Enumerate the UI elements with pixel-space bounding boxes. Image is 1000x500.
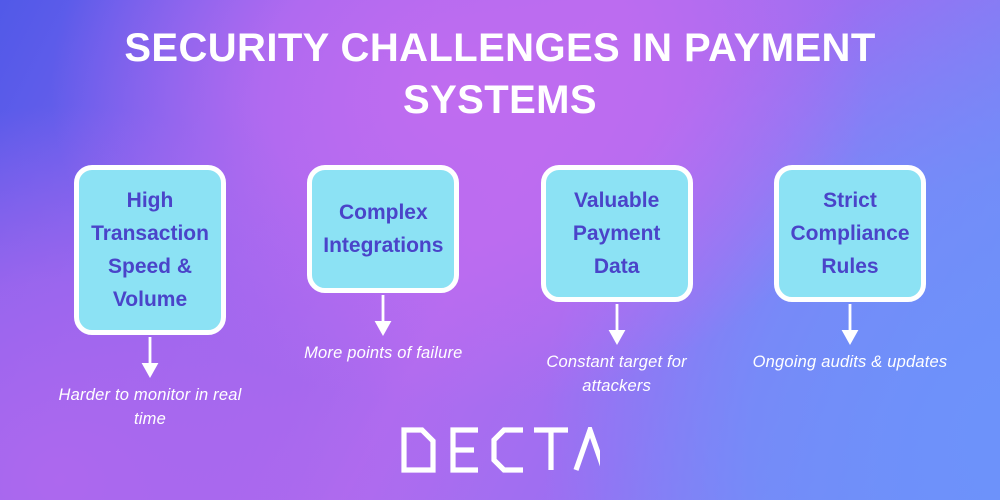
challenge-caption-4: Ongoing audits & updates bbox=[752, 350, 948, 374]
challenge-card-4[interactable]: Strict Compliance Rules bbox=[774, 165, 926, 302]
challenge-columns: High Transaction Speed & Volume Harder t… bbox=[50, 165, 950, 415]
arrow-down-icon bbox=[606, 304, 628, 346]
challenge-caption-1: Harder to monitor in real time bbox=[52, 383, 248, 431]
challenge-caption-2: More points of failure bbox=[285, 341, 481, 365]
arrow-down-icon bbox=[839, 304, 861, 346]
arrow-down-icon bbox=[139, 337, 161, 379]
brand-footer bbox=[0, 427, 1000, 478]
challenge-card-3[interactable]: Valuable Payment Data bbox=[541, 165, 693, 302]
decta-wordmark-logo bbox=[400, 427, 600, 473]
challenge-column-2: Complex Integrations More points of fail… bbox=[283, 165, 483, 365]
arrow-down-icon bbox=[372, 295, 394, 337]
challenge-card-1[interactable]: High Transaction Speed & Volume bbox=[74, 165, 226, 335]
challenge-caption-3: Constant target for attackers bbox=[519, 350, 715, 398]
challenge-column-4: Strict Compliance Rules Ongoing audits &… bbox=[750, 165, 950, 374]
infographic-canvas: SECURITY CHALLENGES IN PAYMENT SYSTEMS H… bbox=[0, 0, 1000, 500]
challenge-column-1: High Transaction Speed & Volume Harder t… bbox=[50, 165, 250, 431]
page-title: SECURITY CHALLENGES IN PAYMENT SYSTEMS bbox=[60, 22, 940, 126]
challenge-column-3: Valuable Payment Data Constant target fo… bbox=[517, 165, 717, 398]
challenge-card-2[interactable]: Complex Integrations bbox=[307, 165, 459, 293]
